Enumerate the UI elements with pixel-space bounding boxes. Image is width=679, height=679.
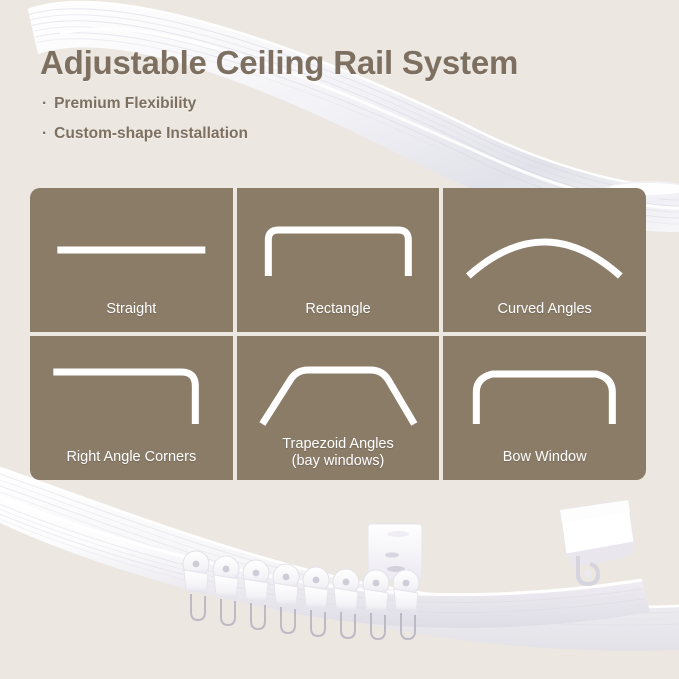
feature-item-custom-shape-installation: ·Custom-shape Installation (42, 125, 640, 142)
shape-card-label: Straight (106, 301, 156, 332)
roller-carrier (393, 570, 419, 639)
flexible-curtain-track-photo (0, 470, 679, 679)
shape-card-bow-window: Bow Window (443, 336, 646, 480)
shape-options-grid: Straight Rectangle Curved Angles (30, 188, 646, 480)
roller-carrier (213, 556, 239, 625)
right-angle-corner-rail-icon (30, 336, 233, 436)
shape-card-label: Rectangle (305, 301, 370, 332)
infographic-stage: Adjustable Ceiling Rail System ·Premium … (0, 0, 679, 679)
bullet-marker-icon: · (42, 95, 47, 112)
header: Adjustable Ceiling Rail System ·Premium … (40, 46, 640, 155)
shape-card-label-line2: (bay windows) (292, 453, 385, 469)
roller-carrier (183, 551, 209, 620)
roller-carrier (243, 560, 269, 629)
shape-card-curved-angles: Curved Angles (443, 188, 646, 332)
roller-carrier (303, 567, 329, 636)
shape-card-label: Trapezoid Angles (bay windows) (282, 436, 394, 480)
shape-card-label: Right Angle Corners (66, 449, 196, 480)
straight-rail-icon (30, 188, 233, 288)
trapezoid-angles-rail-icon (237, 336, 440, 436)
feature-item-premium-flexibility: ·Premium Flexibility (42, 95, 640, 112)
shape-card-right-angle-corners: Right Angle Corners (30, 336, 233, 480)
rectangle-rail-icon (237, 188, 440, 288)
feature-list: ·Premium Flexibility ·Custom-shape Insta… (42, 95, 640, 142)
shape-card-trapezoid-angles: Trapezoid Angles (bay windows) (237, 336, 440, 480)
feature-label: Premium Flexibility (54, 95, 196, 112)
roller-carrier (333, 569, 359, 638)
feature-label: Custom-shape Installation (54, 125, 248, 142)
page-title: Adjustable Ceiling Rail System (40, 46, 640, 81)
shape-card-label: Bow Window (503, 449, 587, 480)
shape-card-rectangle: Rectangle (237, 188, 440, 332)
roller-carrier (273, 564, 299, 633)
bullet-marker-icon: · (42, 125, 47, 142)
roller-carrier (363, 570, 389, 639)
end-cap-with-hook (560, 500, 634, 584)
curved-angles-rail-icon (443, 188, 646, 288)
shape-card-straight: Straight (30, 188, 233, 332)
shape-card-label-line1: Trapezoid Angles (282, 436, 394, 452)
bow-window-rail-icon (443, 336, 646, 436)
shape-card-label: Curved Angles (498, 301, 592, 332)
